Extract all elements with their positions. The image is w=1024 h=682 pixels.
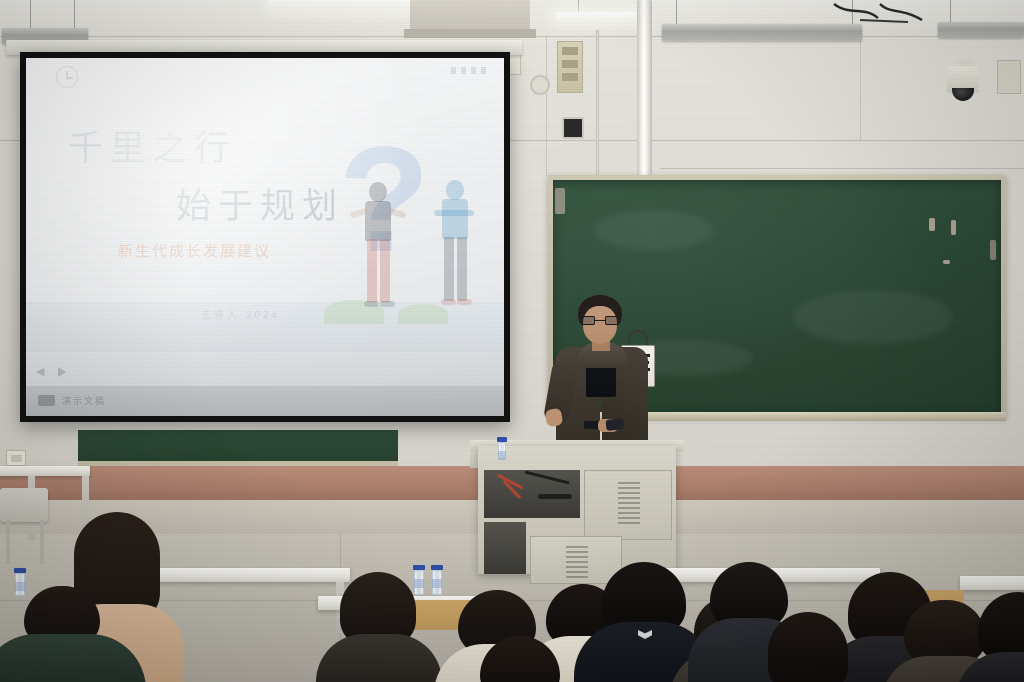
ceiling-projector — [410, 0, 530, 30]
slide-playback-controls[interactable]: ◀ — [36, 365, 66, 378]
classroom-photo: ? 千里之行 — [0, 0, 1024, 682]
empty-desk — [0, 466, 90, 476]
list-item — [972, 592, 1024, 682]
wall-sign — [997, 60, 1021, 94]
list-item — [472, 636, 568, 682]
slide-title-line-2: 始于规划 — [176, 178, 344, 229]
wall-seam — [860, 36, 861, 140]
cabinet-vent — [618, 482, 640, 527]
wall-outlet — [6, 450, 26, 466]
slide-corner-marks — [451, 67, 486, 74]
projector-cables — [830, 2, 930, 24]
screen-glare — [26, 58, 504, 416]
list-item — [0, 586, 126, 682]
desk-row — [960, 576, 1024, 590]
wall-seam — [546, 36, 547, 176]
lectern-lower-bay — [484, 522, 526, 574]
data-cable — [538, 494, 572, 499]
presenter-face — [583, 306, 617, 344]
projector-mount — [404, 29, 536, 38]
fluorescent-fixture-4 — [938, 22, 1024, 38]
slide-subtitle: 新生代成长发展建议 — [118, 240, 271, 261]
clock-logo-icon — [56, 66, 78, 88]
projection-screen[interactable]: ? 千里之行 — [20, 52, 510, 422]
water-bottle — [431, 565, 443, 595]
prev-slide-icon[interactable]: ◀ — [36, 365, 44, 378]
slide-bottom-text: 演示文稿 — [62, 394, 106, 407]
cabinet-vent — [566, 546, 588, 581]
screen-vignette — [26, 58, 504, 416]
left-chalkboard-section — [78, 430, 398, 466]
water-bottle — [497, 437, 507, 459]
fluorescent-fixture-2 — [556, 12, 644, 21]
presenter — [540, 295, 660, 460]
presentation-icon — [38, 395, 55, 406]
wall-seam — [660, 168, 1024, 169]
wall-speaker — [562, 117, 584, 139]
student-chair — [0, 488, 48, 522]
lectern — [478, 446, 676, 574]
light-rod — [30, 0, 31, 28]
chair-leg — [40, 520, 44, 564]
slide-bottom-bar: 演示文稿 — [26, 386, 504, 416]
chair-leg — [6, 520, 10, 564]
slide-floor-band — [26, 302, 504, 352]
list-item — [760, 612, 856, 682]
light-rod — [578, 0, 579, 12]
glasses-icon — [581, 316, 619, 325]
slide-surface: ? 千里之行 — [26, 58, 504, 416]
student-figure-right — [434, 180, 478, 322]
fluorescent-fixture-3 — [662, 24, 862, 41]
list-item — [332, 572, 424, 682]
slide-title-line-1: 千里之行 — [68, 120, 236, 171]
play-icon[interactable] — [58, 367, 66, 377]
light-rod — [676, 0, 677, 24]
wall-control-panel[interactable] — [557, 41, 583, 93]
light-rod — [74, 0, 75, 28]
wall-disc-fitting — [530, 75, 550, 95]
light-rod — [950, 0, 951, 22]
presentation-clicker — [605, 418, 624, 431]
